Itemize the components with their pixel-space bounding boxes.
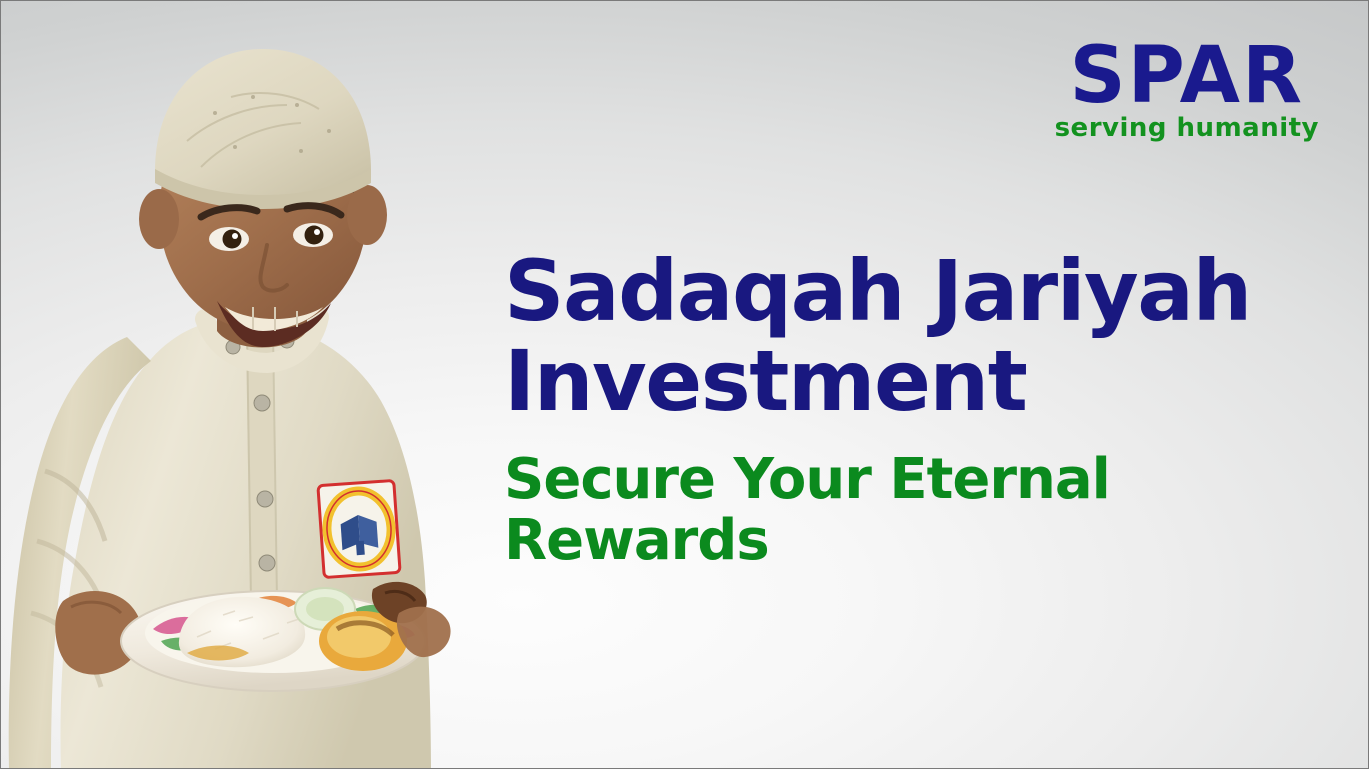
school-badge	[318, 480, 400, 577]
promotional-banner: SPAR serving humanity Sadaqah Jariyah In…	[0, 0, 1369, 769]
boy-with-food-photo	[1, 1, 521, 769]
page-title: Sadaqah Jariyah Investment	[504, 247, 1334, 427]
logo-tagline: serving humanity	[1055, 115, 1319, 141]
prayer-cap	[155, 49, 371, 197]
headline-block: Sadaqah Jariyah Investment Secure Your E…	[504, 247, 1334, 572]
spar-logo[interactable]: SPAR serving humanity	[1055, 39, 1319, 141]
logo-wordmark: SPAR	[1055, 39, 1319, 113]
page-subtitle: Secure Your Eternal Rewards	[504, 449, 1334, 572]
boy-head	[139, 49, 387, 347]
